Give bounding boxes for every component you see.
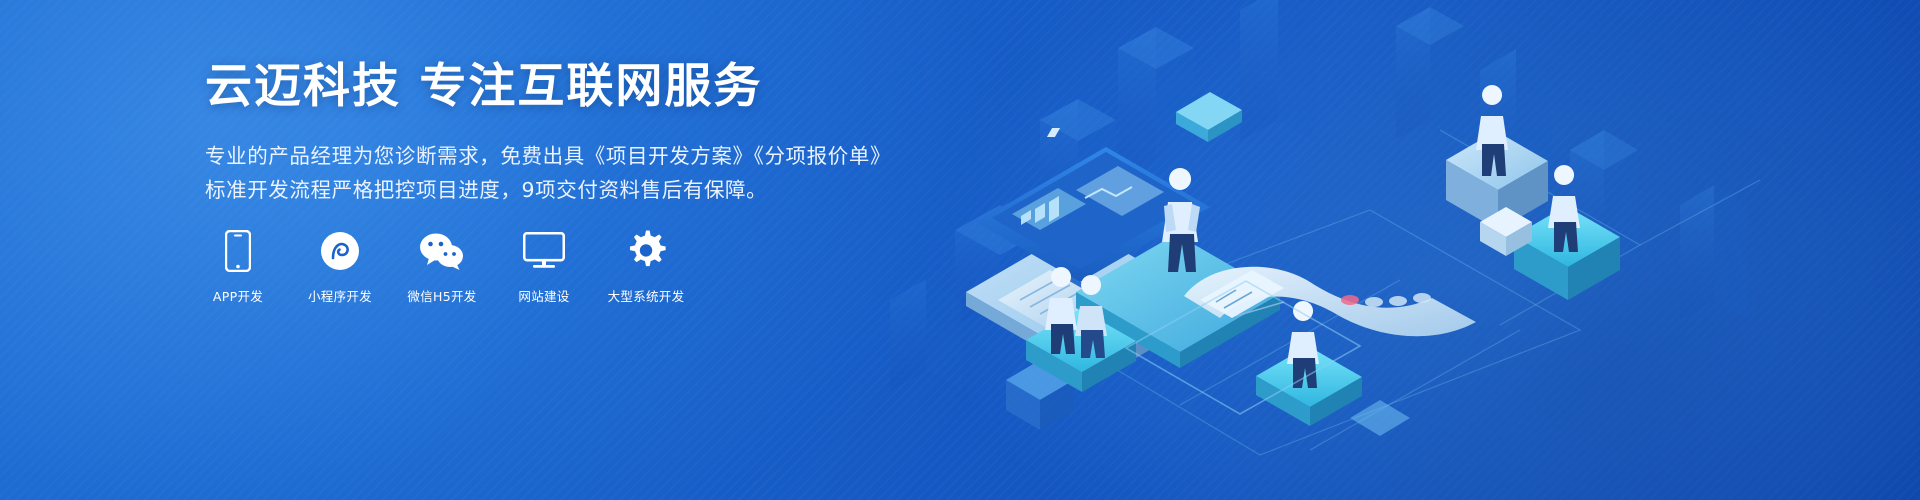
service-item-miniprogram[interactable]: 小程序开发 <box>305 228 375 305</box>
mobile-phone-icon <box>225 228 251 274</box>
isometric-illustration <box>880 0 1920 500</box>
service-label-app: APP开发 <box>213 286 263 305</box>
service-label-system: 大型系统开发 <box>608 286 685 305</box>
service-item-system[interactable]: 大型系统开发 <box>611 228 681 305</box>
mini-program-icon <box>320 228 360 274</box>
subtitle-line-1: 专业的产品经理为您诊断需求，免费出具《项目开发方案》《分项报价单》 <box>205 139 965 173</box>
wechat-icon <box>419 228 465 274</box>
service-label-wechat: 微信H5开发 <box>407 286 476 305</box>
service-item-wechat[interactable]: 微信H5开发 <box>407 228 477 305</box>
gear-icon <box>625 228 667 274</box>
page-title: 云迈科技 专注互联网服务 <box>205 60 965 115</box>
hero-subtitle: 专业的产品经理为您诊断需求，免费出具《项目开发方案》《分项报价单》 标准开发流程… <box>205 139 965 207</box>
service-item-website[interactable]: 网站建设 <box>509 228 579 305</box>
service-icon-row: APP开发 小程序开发 <box>203 228 681 305</box>
service-label-website: 网站建设 <box>518 286 569 305</box>
hero-copy: 云迈科技 专注互联网服务 专业的产品经理为您诊断需求，免费出具《项目开发方案》《… <box>205 60 965 207</box>
service-item-app[interactable]: APP开发 <box>203 228 273 305</box>
monitor-icon <box>523 228 565 274</box>
service-label-miniprogram: 小程序开发 <box>308 286 372 305</box>
subtitle-line-2: 标准开发流程严格把控项目进度，9项交付资料售后有保障。 <box>205 173 965 207</box>
hero-banner: 云迈科技 专注互联网服务 专业的产品经理为您诊断需求，免费出具《项目开发方案》《… <box>0 0 1920 500</box>
